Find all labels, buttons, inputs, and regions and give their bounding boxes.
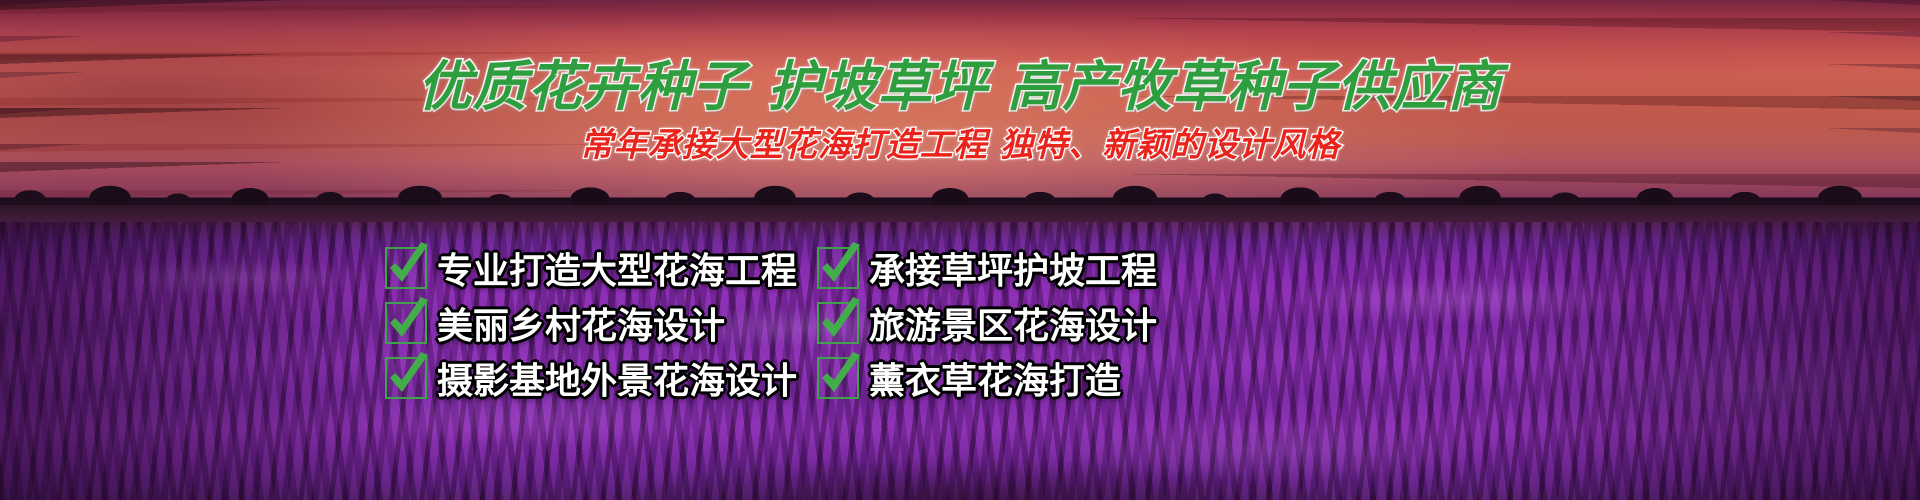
checklist-item-4: 旅游景区花海设计 <box>817 295 1185 350</box>
check-mark-icon <box>385 302 427 344</box>
checklist-label: 美丽乡村花海设计 <box>437 297 725 349</box>
checklist-label: 薰衣草花海打造 <box>869 352 1121 404</box>
checklist-label: 承接草坪护坡工程 <box>869 242 1157 294</box>
banner-headline: 优质花卉种子 护坡草坪 高产牧草种子供应商 <box>0 42 1920 121</box>
promo-banner: 优质花卉种子 护坡草坪 高产牧草种子供应商 常年承接大型花海打造工程 独特、新颖… <box>0 0 1920 500</box>
checklist-item-6: 薰衣草花海打造 <box>817 350 1185 405</box>
text-overlay: 优质花卉种子 护坡草坪 高产牧草种子供应商 常年承接大型花海打造工程 独特、新颖… <box>0 0 1920 500</box>
check-mark-icon <box>817 357 859 399</box>
checklist-item-2: 承接草坪护坡工程 <box>817 240 1185 295</box>
check-mark-icon <box>385 357 427 399</box>
check-mark-icon <box>817 247 859 289</box>
banner-subheadline: 常年承接大型花海打造工程 独特、新颖的设计风格 <box>0 118 1920 166</box>
checklist-item-3: 美丽乡村花海设计 <box>385 295 817 350</box>
feature-checklist: 专业打造大型花海工程 承接草坪护坡工程 美丽乡村花海设计 <box>385 240 1185 405</box>
check-mark-icon <box>385 247 427 289</box>
checklist-item-1: 专业打造大型花海工程 <box>385 240 817 295</box>
checklist-item-5: 摄影基地外景花海设计 <box>385 350 817 405</box>
check-mark-icon <box>817 302 859 344</box>
checklist-label: 摄影基地外景花海设计 <box>437 352 797 404</box>
checklist-label: 旅游景区花海设计 <box>869 297 1157 349</box>
checklist-label: 专业打造大型花海工程 <box>437 242 797 294</box>
